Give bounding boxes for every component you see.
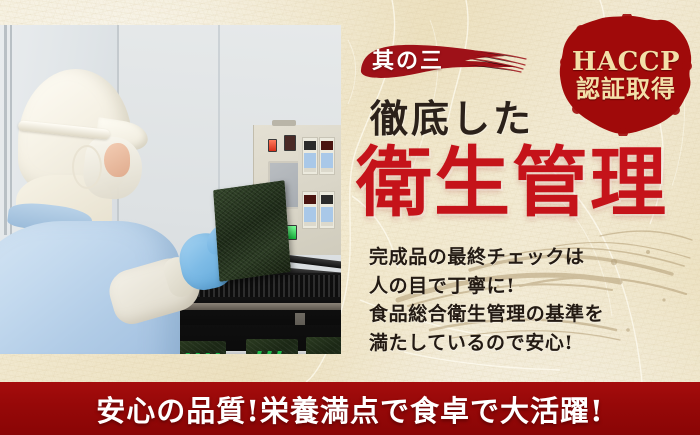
worker-face [104, 143, 130, 177]
factory-inspection-photo [0, 25, 341, 354]
body-copy-line-2: 人の目で丁寧に! [369, 272, 669, 301]
bottom-banner: 安心の品質!栄養満点で食卓で大活躍! [0, 382, 700, 435]
photo-pipe-1 [4, 25, 7, 235]
haccp-seal-stamp [557, 14, 695, 136]
nori-sheet-inspected [213, 180, 291, 282]
body-copy-line-3: 食品総合衛生管理の基準を [369, 300, 669, 329]
series-badge-label: 其の三 [372, 45, 492, 77]
body-copy-line-4: 満たしているので安心! [369, 329, 669, 358]
body-copy-line-1: 完成品の最終チェックは [369, 243, 669, 272]
nori-sheet-conveyor-3 [246, 339, 298, 354]
indicator-lamp-dark [284, 135, 296, 151]
panel-handle [272, 120, 296, 126]
bottom-banner-text: 安心の品質!栄養満点で食卓で大活躍! [96, 388, 603, 430]
subtitle-text: 徹底した [370, 98, 534, 140]
mask-ear-loop [72, 145, 102, 189]
photo-pipe-2 [10, 25, 12, 235]
nori-sheet-conveyor-4 [306, 337, 341, 354]
body-copy: 完成品の最終チェックは 人の目で丁寧に! 食品総合衛生管理の基準を 満たしている… [369, 243, 669, 357]
indicator-lamp-red-1 [268, 139, 277, 152]
advertisement-banner: 其の三 徹底した 衛生管理 HACCP 認証取得 完成品の最終チェックは 人の目… [0, 0, 700, 435]
main-title: 衛生管理 [356, 140, 668, 226]
